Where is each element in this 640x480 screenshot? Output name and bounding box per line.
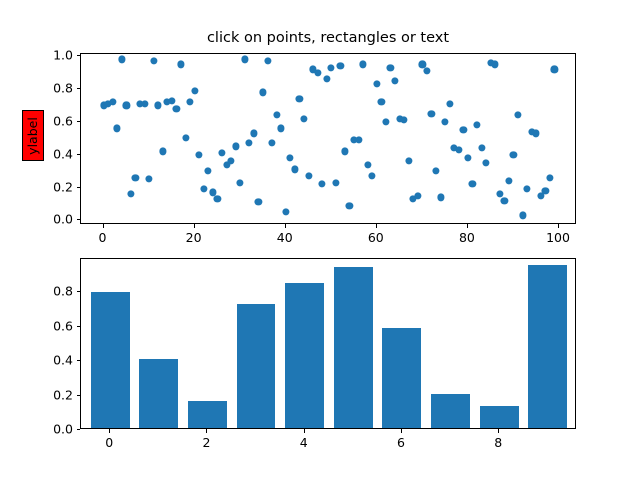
scatter-point[interactable]	[232, 143, 239, 150]
bar-rectangle[interactable]	[334, 267, 373, 428]
bar-rectangle[interactable]	[237, 304, 276, 428]
x-tick-mark	[103, 224, 104, 228]
scatter-point[interactable]	[478, 145, 485, 152]
scatter-point[interactable]	[287, 154, 294, 161]
scatter-point[interactable]	[109, 99, 116, 106]
x-tick-label: 20	[186, 230, 202, 245]
x-tick-label: 80	[459, 230, 475, 245]
scatter-point[interactable]	[432, 167, 439, 174]
y-tick-mark	[77, 88, 81, 89]
x-tick-label: 4	[300, 435, 308, 450]
scatter-point[interactable]	[414, 192, 421, 199]
x-tick-label: 2	[202, 435, 210, 450]
scatter-point[interactable]	[401, 117, 408, 124]
scatter-point[interactable]	[118, 56, 125, 63]
scatter-point[interactable]	[132, 174, 139, 181]
scatter-point[interactable]	[145, 176, 152, 183]
x-tick-label: 40	[277, 230, 293, 245]
scatter-point[interactable]	[378, 99, 385, 106]
y-tick-mark	[77, 219, 81, 220]
y-tick-label: 0.8	[18, 81, 73, 96]
bar-rectangle[interactable]	[91, 292, 130, 428]
scatter-point[interactable]	[364, 161, 371, 168]
scatter-point[interactable]	[123, 102, 130, 109]
scatter-point[interactable]	[369, 172, 376, 179]
bar-rectangle[interactable]	[285, 283, 324, 428]
scatter-point[interactable]	[446, 100, 453, 107]
scatter-point[interactable]	[141, 100, 148, 107]
scatter-point[interactable]	[373, 81, 380, 88]
y-tick-mark	[77, 429, 81, 430]
x-tick-mark	[376, 224, 377, 228]
scatter-point[interactable]	[319, 181, 326, 188]
x-tick-mark	[206, 429, 207, 433]
scatter-point[interactable]	[387, 64, 394, 71]
scatter-point[interactable]	[173, 105, 180, 112]
scatter-point[interactable]	[241, 56, 248, 63]
x-tick-label: 100	[546, 230, 570, 245]
scatter-point[interactable]	[533, 130, 540, 137]
scatter-point[interactable]	[492, 61, 499, 68]
scatter-point[interactable]	[214, 195, 221, 202]
scatter-point[interactable]	[186, 99, 193, 106]
bar-rectangle[interactable]	[382, 328, 421, 428]
scatter-point[interactable]	[510, 151, 517, 158]
scatter-point[interactable]	[464, 154, 471, 161]
scatter-point[interactable]	[150, 58, 157, 65]
y-tick-mark	[77, 154, 81, 155]
scatter-point[interactable]	[264, 58, 271, 65]
scatter-point[interactable]	[469, 181, 476, 188]
scatter-point[interactable]	[546, 174, 553, 181]
x-tick-mark	[558, 224, 559, 228]
y-tick-mark	[77, 121, 81, 122]
scatter-point[interactable]	[114, 125, 121, 132]
scatter-point[interactable]	[505, 177, 512, 184]
scatter-point[interactable]	[182, 135, 189, 142]
scatter-point[interactable]	[337, 62, 344, 69]
scatter-point[interactable]	[237, 179, 244, 186]
y-tick-mark	[77, 326, 81, 327]
scatter-point[interactable]	[519, 212, 526, 219]
scatter-point[interactable]	[191, 87, 198, 94]
scatter-point[interactable]	[542, 187, 549, 194]
x-tick-label: 0	[99, 230, 107, 245]
bar-axes[interactable]	[80, 258, 576, 429]
scatter-point[interactable]	[524, 186, 531, 193]
scatter-point[interactable]	[514, 112, 521, 119]
scatter-point[interactable]	[437, 194, 444, 201]
scatter-point[interactable]	[282, 209, 289, 216]
bar-rectangle[interactable]	[139, 359, 178, 428]
scatter-point[interactable]	[360, 61, 367, 68]
scatter-point[interactable]	[259, 89, 266, 96]
scatter-point[interactable]	[473, 122, 480, 129]
scatter-point[interactable]	[196, 151, 203, 158]
y-tick-mark	[77, 291, 81, 292]
scatter-point[interactable]	[227, 158, 234, 165]
y-tick-mark	[77, 395, 81, 396]
bar-rectangle[interactable]	[188, 401, 227, 428]
figure-title[interactable]: click on points, rectangles or text	[80, 30, 576, 46]
scatter-point[interactable]	[428, 110, 435, 117]
y-tick-label: 0.2	[18, 387, 73, 402]
scatter-point[interactable]	[291, 166, 298, 173]
scatter-point[interactable]	[341, 148, 348, 155]
y-tick-mark	[77, 55, 81, 56]
x-tick-mark	[498, 429, 499, 433]
x-tick-mark	[194, 224, 195, 228]
x-tick-mark	[401, 429, 402, 433]
bar-rectangle[interactable]	[480, 406, 519, 428]
y-tick-label: 1.0	[18, 48, 73, 63]
x-tick-mark	[285, 224, 286, 228]
x-tick-mark	[304, 429, 305, 433]
scatter-point[interactable]	[423, 67, 430, 74]
scatter-point[interactable]	[460, 126, 467, 133]
scatter-point[interactable]	[177, 61, 184, 68]
scatter-point[interactable]	[246, 140, 253, 147]
y-tick-mark	[77, 187, 81, 188]
x-tick-label: 0	[105, 435, 113, 450]
scatter-point[interactable]	[391, 77, 398, 84]
scatter-point[interactable]	[200, 186, 207, 193]
scatter-point[interactable]	[205, 167, 212, 174]
y-tick-mark	[77, 360, 81, 361]
x-tick-mark	[109, 429, 110, 433]
scatter-point[interactable]	[255, 199, 262, 206]
scatter-point[interactable]	[346, 202, 353, 209]
x-tick-label: 8	[494, 435, 502, 450]
scatter-point[interactable]	[159, 148, 166, 155]
scatter-point[interactable]	[305, 172, 312, 179]
y-tick-label: 0.6	[18, 113, 73, 128]
y-tick-label: 0.4	[18, 353, 73, 368]
bar-rectangle[interactable]	[431, 394, 470, 428]
scatter-point[interactable]	[328, 64, 335, 71]
scatter-point[interactable]	[442, 118, 449, 125]
x-tick-label: 6	[397, 435, 405, 450]
y-tick-label: 0.6	[18, 318, 73, 333]
scatter-point[interactable]	[278, 125, 285, 132]
y-tick-label: 0.2	[18, 179, 73, 194]
y-tick-label: 0.4	[18, 146, 73, 161]
scatter-point[interactable]	[127, 190, 134, 197]
scatter-point[interactable]	[551, 66, 558, 73]
matplotlib-figure: click on points, rectangles or text ylab…	[0, 0, 640, 480]
scatter-point[interactable]	[501, 197, 508, 204]
y-tick-label: 0.8	[18, 284, 73, 299]
scatter-point[interactable]	[332, 179, 339, 186]
scatter-point[interactable]	[250, 130, 257, 137]
scatter-point[interactable]	[314, 69, 321, 76]
x-tick-mark	[467, 224, 468, 228]
scatter-point[interactable]	[405, 158, 412, 165]
scatter-axes[interactable]	[80, 53, 576, 224]
bar-rectangle[interactable]	[528, 265, 567, 428]
scatter-point[interactable]	[218, 149, 225, 156]
scatter-point[interactable]	[483, 159, 490, 166]
x-tick-label: 60	[368, 230, 384, 245]
scatter-point[interactable]	[300, 115, 307, 122]
scatter-point[interactable]	[355, 136, 362, 143]
scatter-point[interactable]	[268, 140, 275, 147]
y-tick-label: 0.0	[18, 422, 73, 437]
scatter-point[interactable]	[168, 97, 175, 104]
scatter-point[interactable]	[296, 95, 303, 102]
scatter-point[interactable]	[155, 102, 162, 109]
y-tick-label: 0.0	[18, 212, 73, 227]
scatter-point[interactable]	[382, 118, 389, 125]
scatter-point[interactable]	[455, 146, 462, 153]
scatter-point[interactable]	[273, 112, 280, 119]
scatter-point[interactable]	[323, 76, 330, 83]
